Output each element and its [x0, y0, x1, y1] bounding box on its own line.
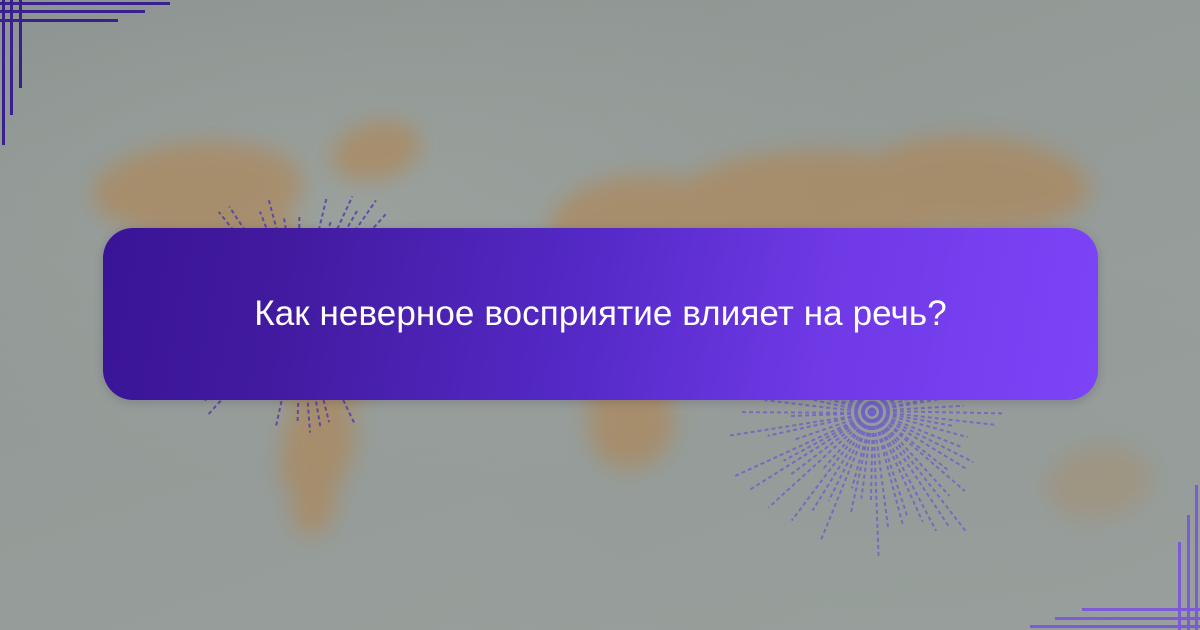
banner-title-text: Как неверное восприятие влияет на речь? — [214, 292, 987, 336]
corner-bracket-bottom-right — [1030, 485, 1200, 630]
corner-line-vertical — [1187, 515, 1190, 630]
landmass-greenland — [324, 112, 427, 191]
title-banner: Как неверное восприятие влияет на речь? — [103, 228, 1098, 400]
corner-line-horizontal — [1082, 608, 1200, 611]
corner-line-horizontal — [1030, 625, 1200, 628]
corner-line-vertical — [1178, 542, 1181, 630]
banner-canvas: Как неверное восприятие влияет на речь? — [0, 0, 1200, 630]
corner-line-vertical — [10, 0, 13, 115]
corner-line-horizontal — [0, 19, 118, 22]
corner-line-vertical — [19, 0, 22, 88]
corner-bracket-top-left — [0, 0, 170, 145]
corner-line-horizontal — [0, 2, 170, 5]
